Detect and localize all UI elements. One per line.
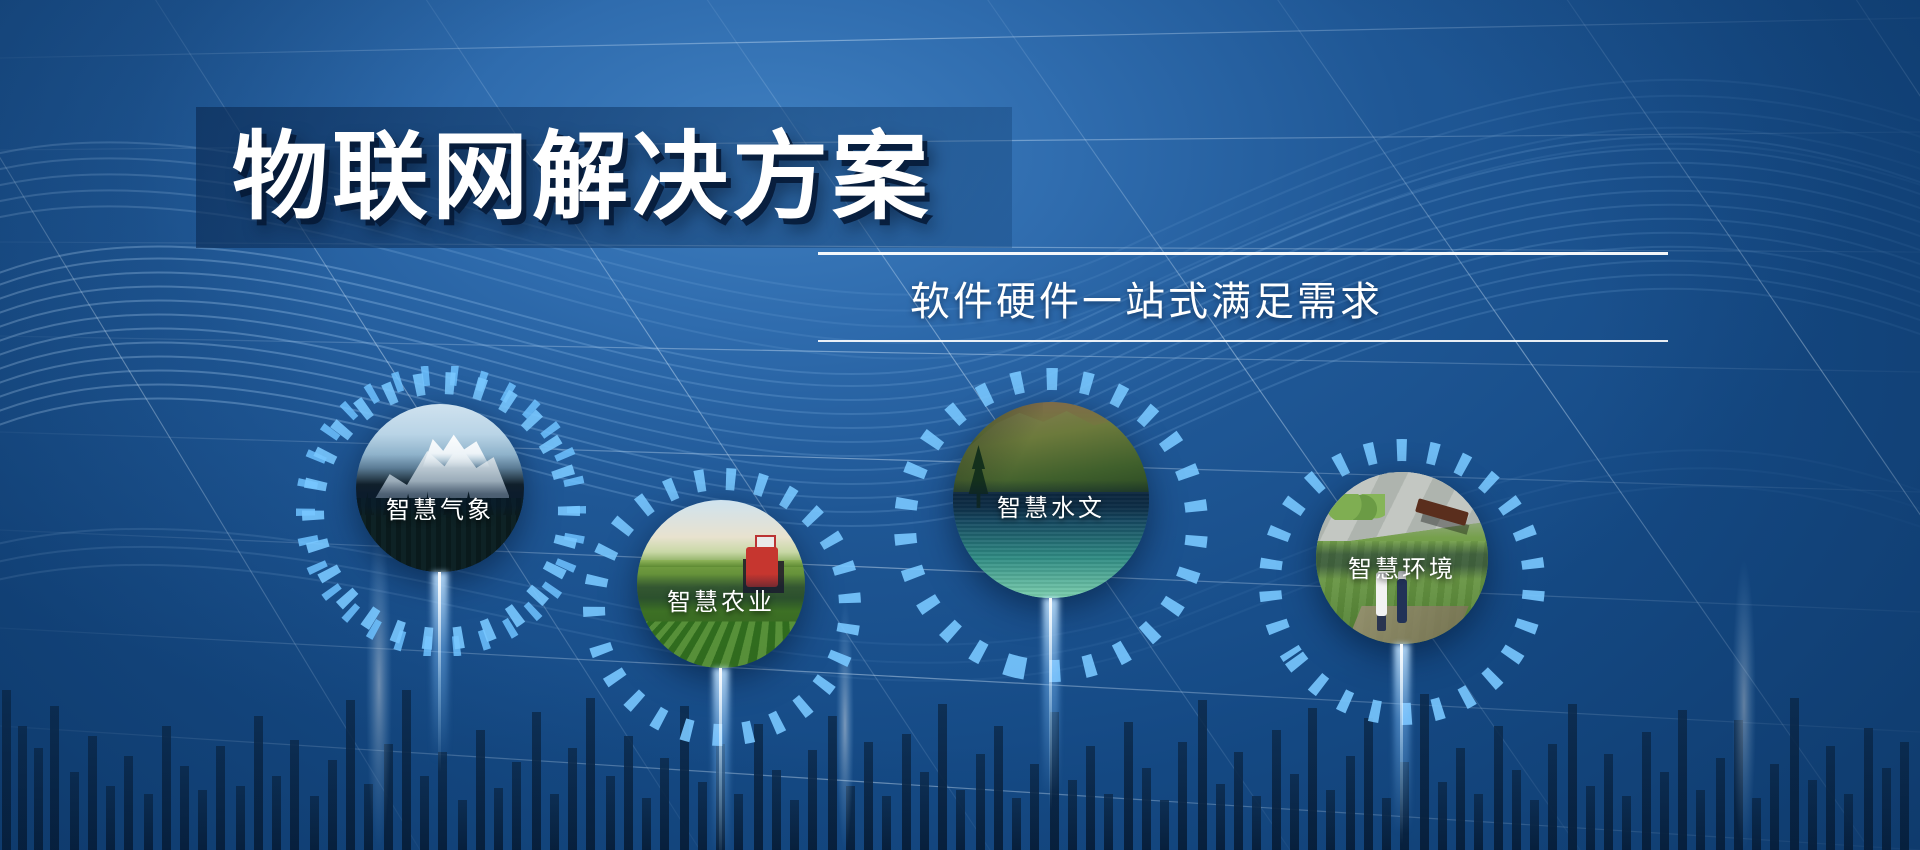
solution-photo-agriculture: 智慧农业 (637, 500, 805, 668)
light-beam-core (719, 668, 722, 850)
solution-photo-environment: 智慧环境 (1316, 472, 1488, 644)
page-title: 物联网解决方案 (232, 118, 1092, 238)
solution-label-meteorology: 智慧气象 (356, 490, 524, 525)
iot-solution-banner: 物联网解决方案 软件硬件一站式满足需求 智慧气象 (0, 0, 1920, 850)
solution-label-agriculture: 智慧农业 (637, 582, 805, 617)
subtitle-group: 软件硬件一站式满足需求 (818, 252, 1668, 342)
subtitle-rule-bottom (818, 340, 1668, 342)
solution-photo-meteorology: 智慧气象 (356, 404, 524, 572)
subtitle-rule-top (818, 252, 1668, 255)
page-subtitle: 软件硬件一站式满足需求 (818, 255, 1668, 340)
light-beam-core (1049, 598, 1052, 810)
solution-label-hydrology: 智慧水文 (953, 488, 1149, 523)
light-beam-core (438, 572, 441, 772)
light-beam-core (1400, 644, 1403, 844)
solution-label-environment: 智慧环境 (1316, 549, 1488, 584)
solution-photo-hydrology: 智慧水文 (953, 402, 1149, 598)
